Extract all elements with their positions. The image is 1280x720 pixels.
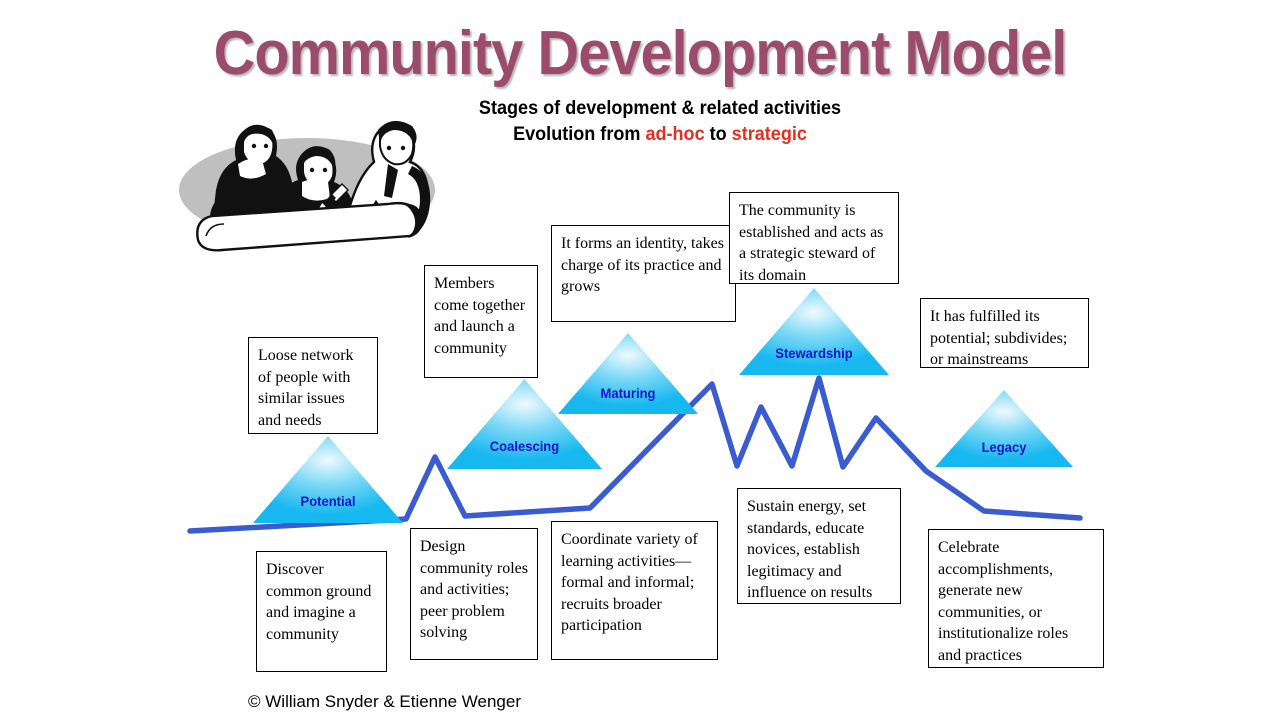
coalescing-top-box: Members come together and launch a commu… bbox=[424, 265, 538, 378]
stage-label-stewardship: Stewardship bbox=[744, 345, 884, 361]
stage-label-potential: Potential bbox=[258, 493, 398, 509]
triangle-potential: Potential bbox=[253, 436, 403, 523]
subtitle-highlight-adhoc: ad-hoc bbox=[645, 124, 704, 145]
page-title: Community Development Model bbox=[45, 18, 1235, 89]
subtitle-line-1: Stages of development & related activiti… bbox=[356, 96, 964, 122]
stage-label-maturing: Maturing bbox=[563, 385, 693, 401]
copyright-credit: © William Snyder & Etienne Wenger bbox=[248, 692, 521, 712]
coalescing-bottom-box: Design community roles and activities; p… bbox=[410, 528, 538, 660]
triangle-maturing: Maturing bbox=[558, 333, 698, 414]
subtitle: Stages of development & related activiti… bbox=[356, 96, 964, 148]
stewardship-top-box: The community is established and acts as… bbox=[729, 192, 899, 284]
stage-label-legacy: Legacy bbox=[940, 439, 1068, 455]
stewardship-bottom-box: Sustain energy, set standards, educate n… bbox=[737, 488, 901, 604]
triangle-stewardship: Stewardship bbox=[739, 288, 889, 375]
maturing-bottom-box: Coordinate variety of learning activitie… bbox=[551, 521, 718, 660]
subtitle-highlight-strategic: strategic bbox=[732, 124, 807, 145]
subtitle-connector: to bbox=[705, 124, 732, 145]
potential-top-box: Loose network of people with similar iss… bbox=[248, 337, 378, 434]
slide-canvas: Community Development Model Stages of de… bbox=[0, 0, 1280, 720]
subtitle-line-2: Evolution from ad-hoc to strategic bbox=[356, 122, 964, 148]
people-with-blueprint-clipart bbox=[176, 112, 438, 252]
stage-label-coalescing: Coalescing bbox=[452, 438, 596, 454]
triangle-legacy: Legacy bbox=[935, 390, 1073, 467]
legacy-top-box: It has fulfilled its potential; subdivid… bbox=[920, 298, 1089, 368]
maturing-top-box: It forms an identity, takes charge of it… bbox=[551, 225, 736, 322]
potential-bottom-box: Discover common ground and imagine a com… bbox=[256, 551, 387, 672]
legacy-bottom-box: Celebrate accomplishments, generate new … bbox=[928, 529, 1104, 668]
subtitle-prefix: Evolution from bbox=[513, 124, 645, 145]
